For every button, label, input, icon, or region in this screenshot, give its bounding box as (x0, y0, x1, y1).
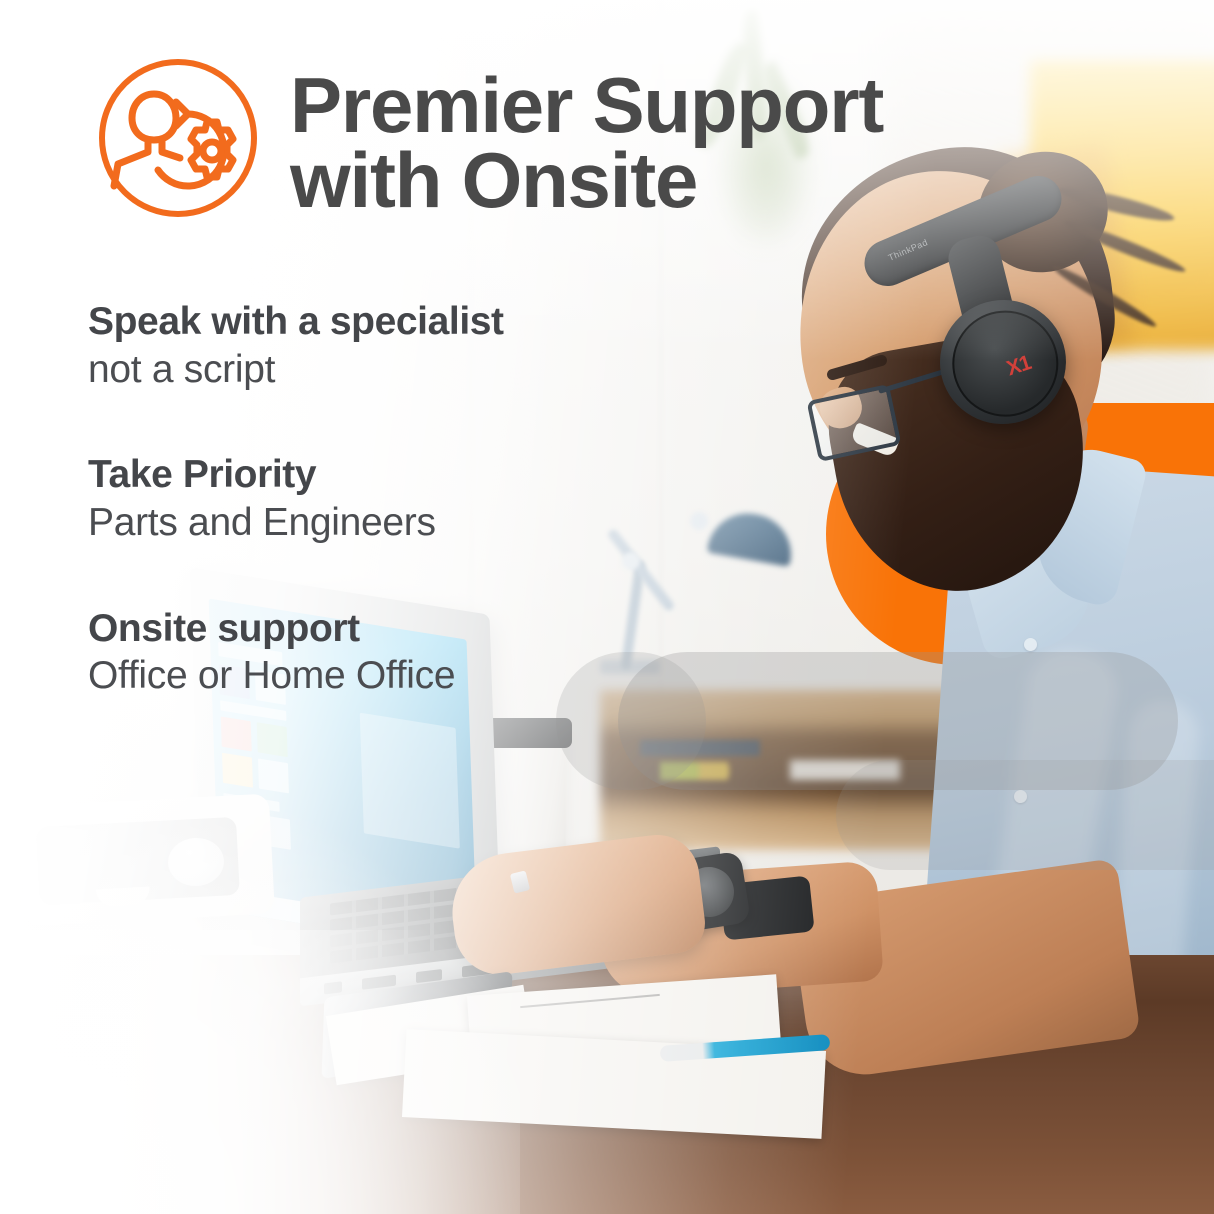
promo-card: ThinkPad X1 (0, 0, 1214, 1214)
feature-title: Onsite support (88, 607, 708, 651)
feature-subtitle: not a script (88, 348, 708, 392)
premier-support-person-gear-icon (92, 52, 264, 224)
promo-header: Premier Support with Onsite (92, 52, 883, 224)
feature-title: Take Priority (88, 453, 708, 497)
page-title-line-2: with Onsite (290, 143, 883, 218)
feature-list: Speak with a specialist not a script Tak… (88, 300, 708, 698)
promo-content: Premier Support with Onsite Speak with a… (0, 0, 1214, 1214)
feature-item-onsite-support: Onsite support Office or Home Office (88, 607, 708, 698)
feature-item-take-priority: Take Priority Parts and Engineers (88, 453, 708, 544)
feature-item-speak-with-a-specialist: Speak with a specialist not a script (88, 300, 708, 391)
page-title: Premier Support with Onsite (290, 52, 883, 218)
feature-subtitle: Parts and Engineers (88, 501, 708, 545)
feature-title: Speak with a specialist (88, 300, 708, 344)
feature-subtitle: Office or Home Office (88, 654, 708, 698)
